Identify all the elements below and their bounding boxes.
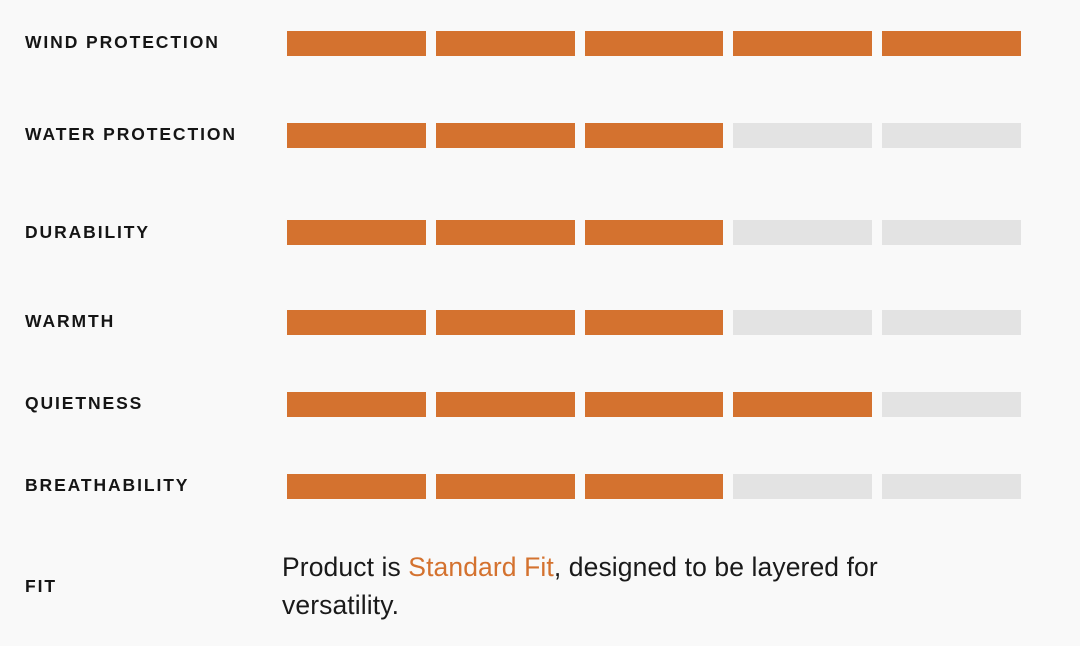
rating-meter-water-protection: [287, 123, 1021, 148]
product-spec-panel: Wind Protection Water Protection Durabil…: [0, 0, 1080, 646]
rating-segment: [882, 31, 1021, 56]
rating-segment: [733, 310, 872, 335]
spec-label-quietness: Quietness: [25, 388, 287, 420]
rating-segment: [585, 392, 724, 417]
rating-segment: [436, 31, 575, 56]
spec-label-water-protection: Water Protection: [25, 119, 287, 151]
spec-row-water-protection: Water Protection: [0, 86, 1080, 184]
rating-segment: [287, 220, 426, 245]
rating-meter-wind-protection: [287, 31, 1021, 56]
spec-label-fit: Fit: [25, 571, 282, 603]
rating-segment: [287, 31, 426, 56]
fit-type-highlight: Standard Fit: [408, 552, 554, 582]
rating-segment: [882, 474, 1021, 499]
fit-description: Product is Standard Fit, designed to be …: [282, 549, 972, 624]
rating-meter-quietness: [287, 392, 1021, 417]
rating-segment: [436, 123, 575, 148]
rating-meter-durability: [287, 220, 1021, 245]
rating-segment: [287, 310, 426, 335]
rating-meter-breathability: [287, 474, 1021, 499]
rating-segment: [287, 474, 426, 499]
rating-segment: [733, 123, 872, 148]
rating-segment: [585, 474, 724, 499]
rating-segment: [287, 392, 426, 417]
spec-row-breathability: Breathability: [0, 445, 1080, 527]
rating-segment: [287, 123, 426, 148]
spec-row-wind-protection: Wind Protection: [0, 0, 1080, 86]
rating-segment: [436, 310, 575, 335]
rating-segment: [882, 123, 1021, 148]
rating-segment: [436, 474, 575, 499]
rating-segment: [733, 31, 872, 56]
spec-label-warmth: Warmth: [25, 306, 287, 338]
rating-segment: [733, 392, 872, 417]
rating-segment: [585, 220, 724, 245]
spec-label-wind-protection: Wind Protection: [25, 27, 287, 59]
rating-segment: [733, 220, 872, 245]
rating-segment: [882, 220, 1021, 245]
rating-segment: [882, 392, 1021, 417]
spec-row-durability: Durability: [0, 184, 1080, 281]
spec-row-fit: Fit Product is Standard Fit, designed to…: [0, 527, 1080, 646]
rating-meter-warmth: [287, 310, 1021, 335]
spec-row-warmth: Warmth: [0, 281, 1080, 363]
spec-label-durability: Durability: [25, 217, 287, 249]
fit-text-before: Product is: [282, 552, 408, 582]
rating-segment: [585, 31, 724, 56]
rating-segment: [882, 310, 1021, 335]
spec-label-breathability: Breathability: [25, 470, 287, 502]
rating-segment: [585, 123, 724, 148]
rating-segment: [436, 392, 575, 417]
rating-segment: [436, 220, 575, 245]
spec-row-quietness: Quietness: [0, 363, 1080, 445]
rating-segment: [585, 310, 724, 335]
rating-segment: [733, 474, 872, 499]
